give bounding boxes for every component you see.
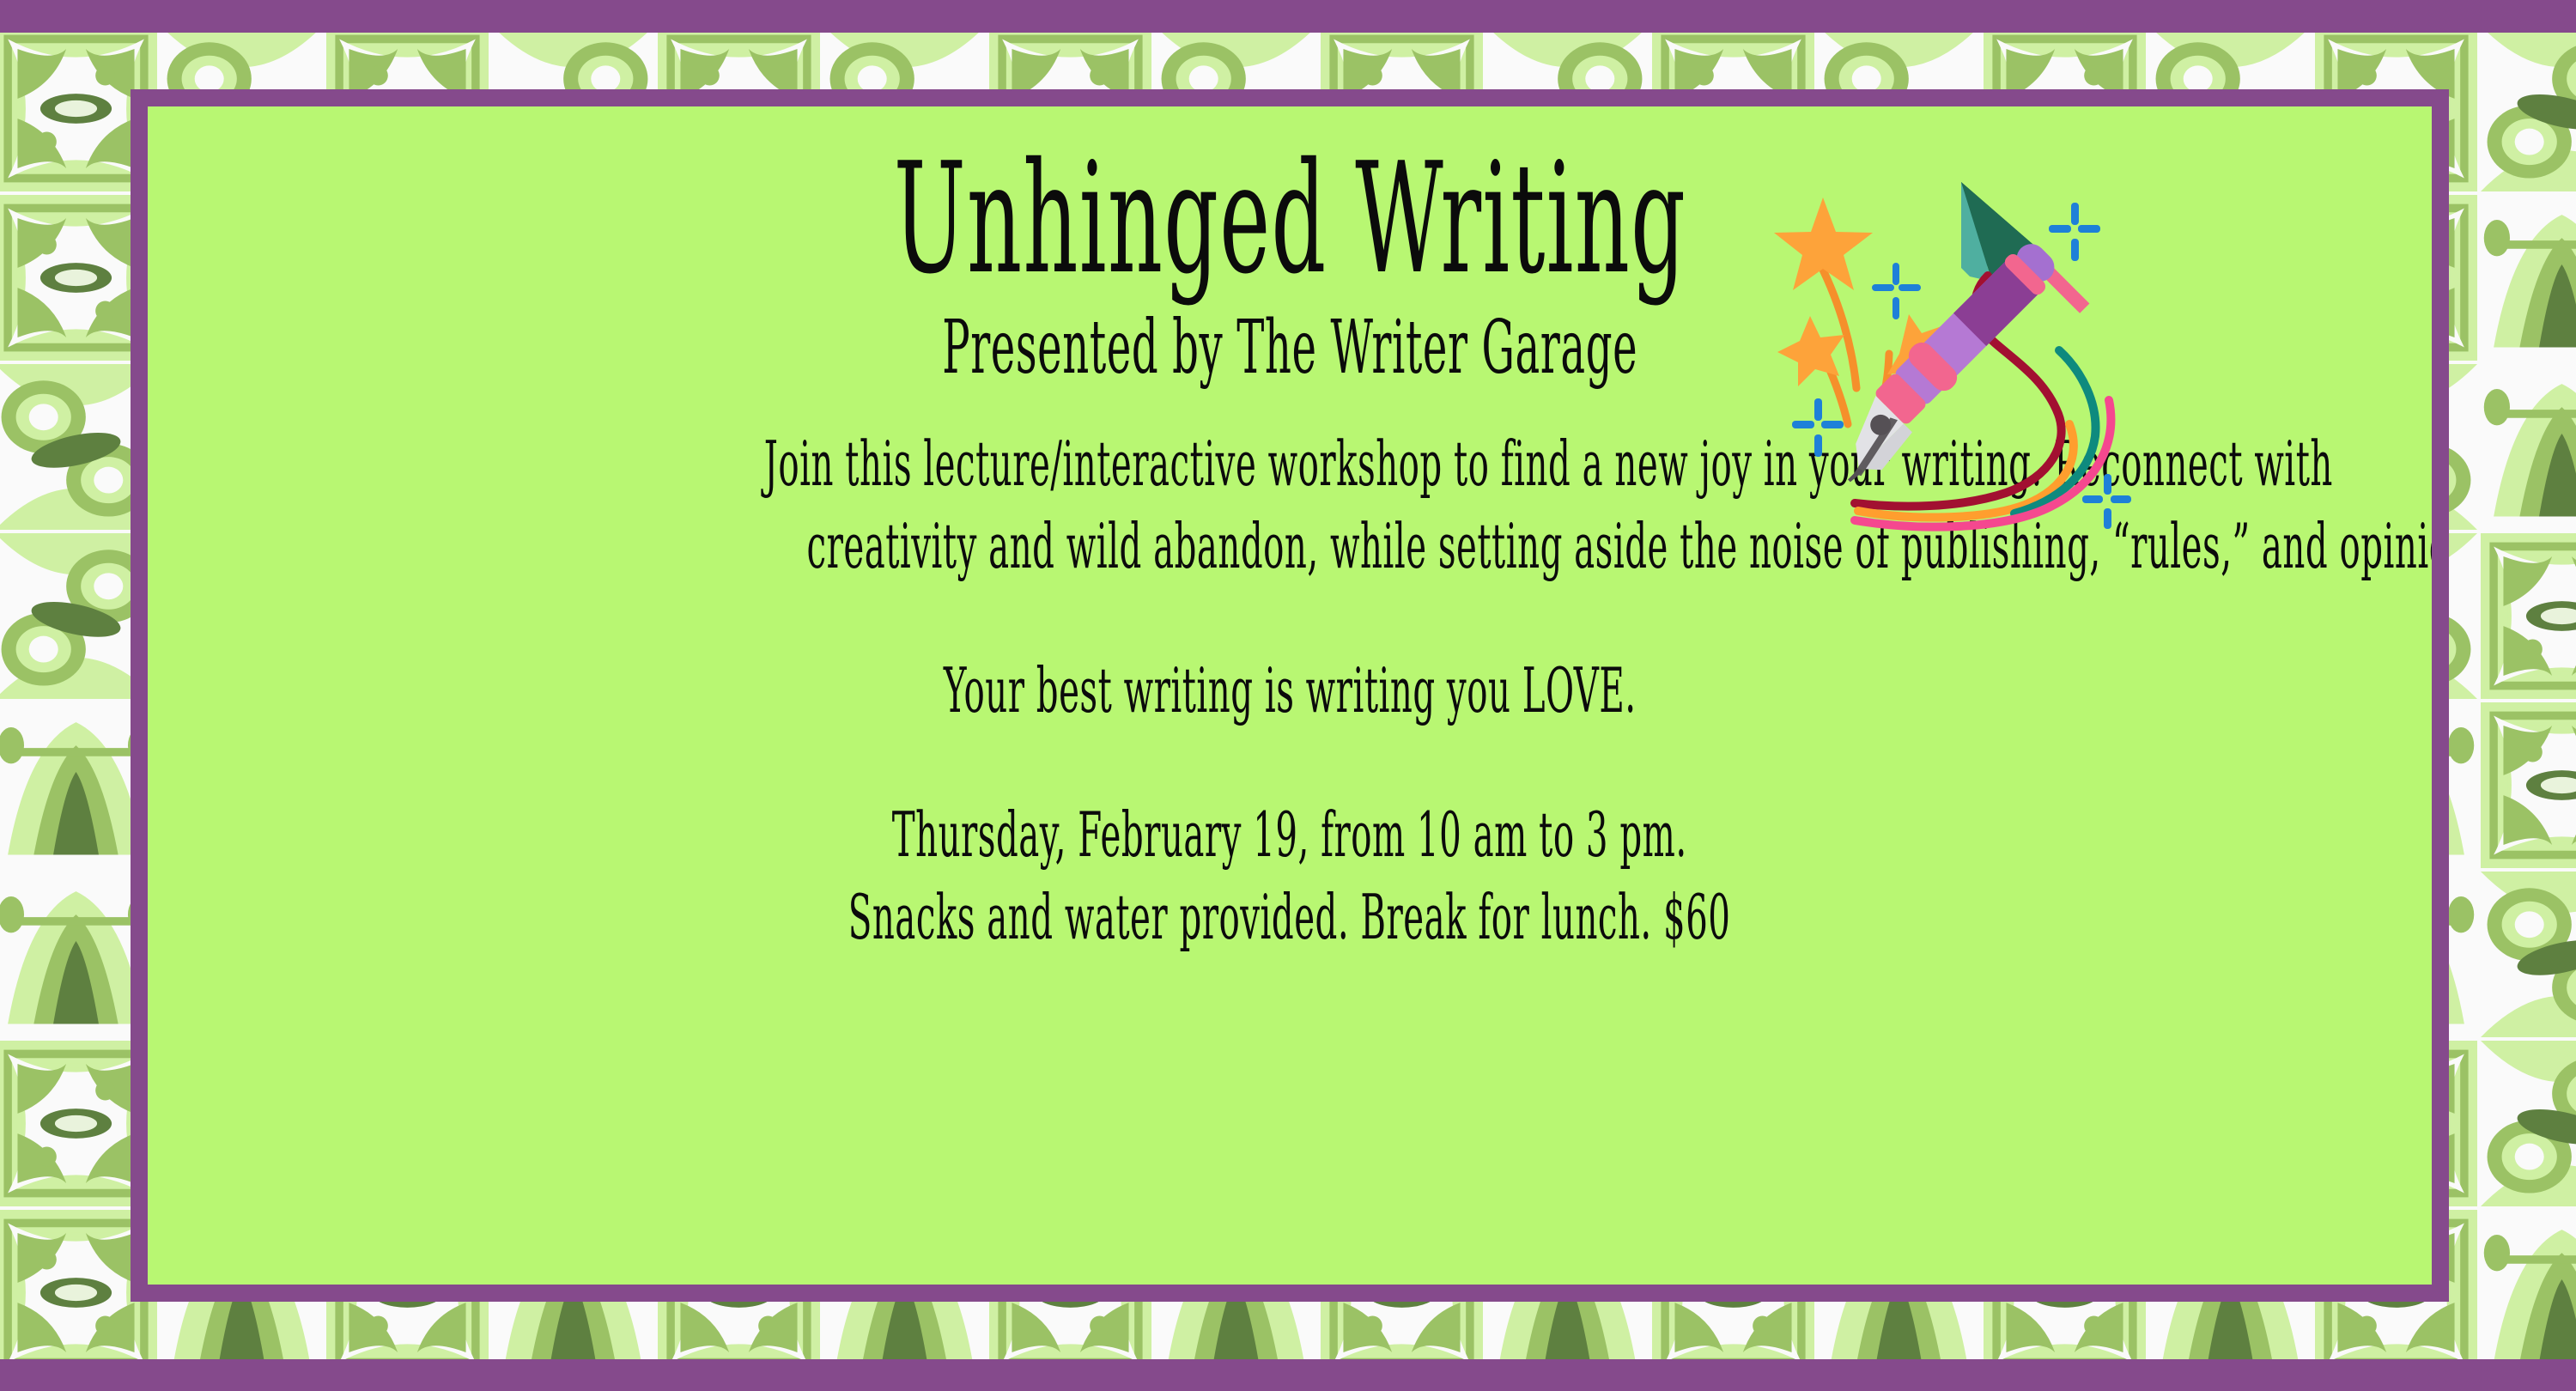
body-line-text: creativity and wild abandon, while setti… [807,515,2432,577]
event-amenities-price-text: Snacks and water provided. Break for lun… [848,886,1731,948]
body-text-block: Join this lecture/interactive workshop t… [148,433,2432,948]
purple-frame: Unhinged Writing Presented by The Writer… [131,89,2449,1302]
ornament-tile [2481,195,2576,361]
ornament-tile [2481,1041,2576,1206]
detail-line: Thursday, February 19, from 10 am to 3 p… [148,804,2432,866]
event-datetime-text: Thursday, February 19, from 10 am to 3 p… [892,804,1687,866]
content-panel: Unhinged Writing Presented by The Writer… [148,106,2432,1285]
ornament-tile [2481,702,2576,868]
subtitle-container: Presented by The Writer Garage [148,311,2432,385]
ornament-tile [2481,533,2576,699]
body-line-text: Join this lecture/interactive workshop t… [764,433,2333,495]
tagline: Your best writing is writing you LOVE. [148,659,2432,721]
poster-canvas: Unhinged Writing Presented by The Writer… [0,0,2576,1391]
ornament-tile [2481,364,2576,530]
tagline-text: Your best writing is writing you LOVE. [944,659,1637,721]
ornament-tile [2481,33,2576,191]
ornament-tile [2481,1210,2576,1359]
body-line: Join this lecture/interactive workshop t… [148,433,2432,495]
detail-line: Snacks and water provided. Break for lun… [148,886,2432,948]
body-line: creativity and wild abandon, while setti… [148,515,2432,577]
title-container: Unhinged Writing [148,143,2432,295]
page-title: Unhinged Writing [893,143,1686,295]
paragraph-spacer [148,577,2432,659]
ornament-tile [2481,872,2576,1037]
poster-subtitle: Presented by The Writer Garage [942,311,1637,385]
paragraph-spacer [148,721,2432,804]
